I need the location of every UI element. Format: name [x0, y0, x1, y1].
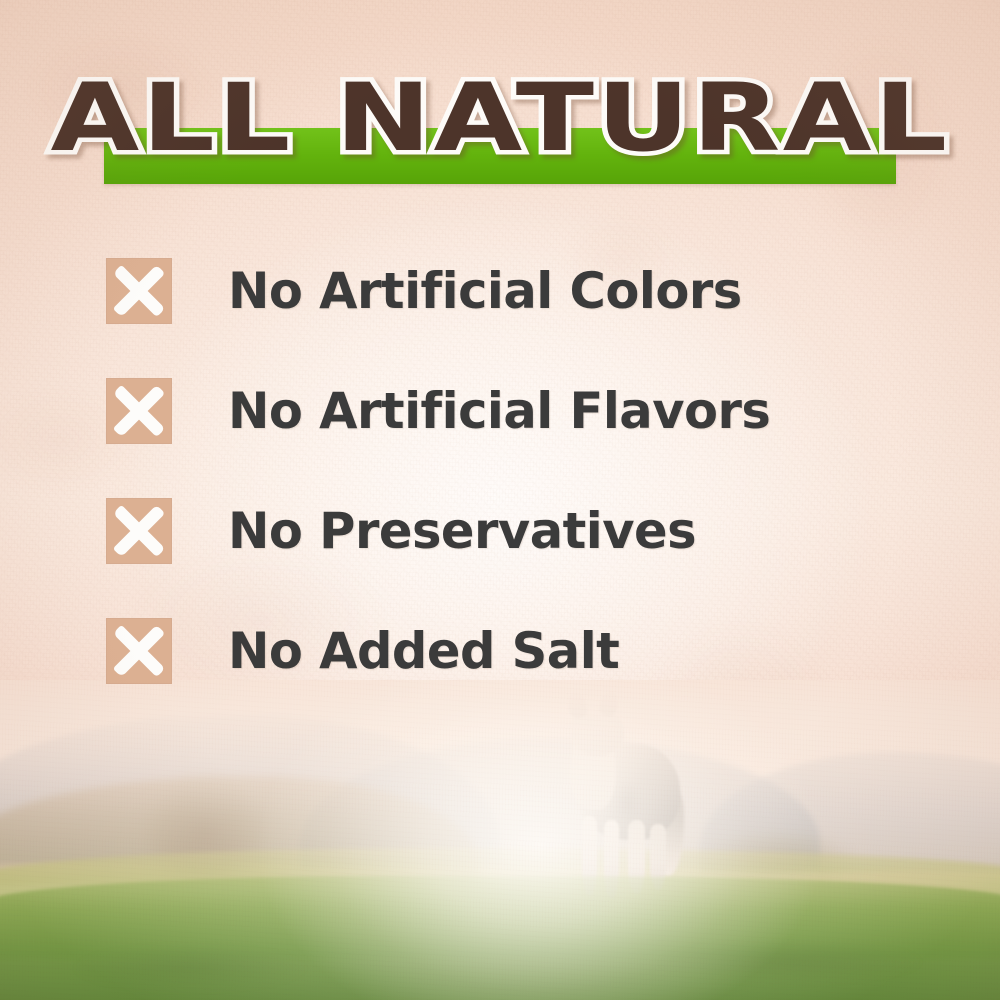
all-natural-product-poster: All NATURAL No Artificial Colors No Arti…	[0, 0, 1000, 1000]
x-mark-icon	[106, 618, 172, 684]
x-mark-icon	[106, 258, 172, 324]
list-item: No Added Salt	[106, 618, 946, 684]
x-mark-icon	[106, 498, 172, 564]
list-item: No Preservatives	[106, 498, 946, 564]
grass-clump-left	[40, 932, 340, 992]
feature-label: No Artificial Flavors	[228, 378, 770, 444]
list-item: No Artificial Colors	[106, 258, 946, 324]
feature-label: No Preservatives	[228, 498, 696, 564]
poster-title: All NATURAL	[0, 60, 1000, 178]
feature-list: No Artificial Colors No Artificial Flavo…	[106, 258, 946, 738]
grass-clump-right	[620, 926, 960, 986]
list-item: No Artificial Flavors	[106, 378, 946, 444]
title-banner: All NATURAL	[0, 60, 1000, 200]
x-mark-icon	[106, 378, 172, 444]
feature-label: No Added Salt	[228, 618, 619, 684]
feature-label: No Artificial Colors	[228, 258, 742, 324]
